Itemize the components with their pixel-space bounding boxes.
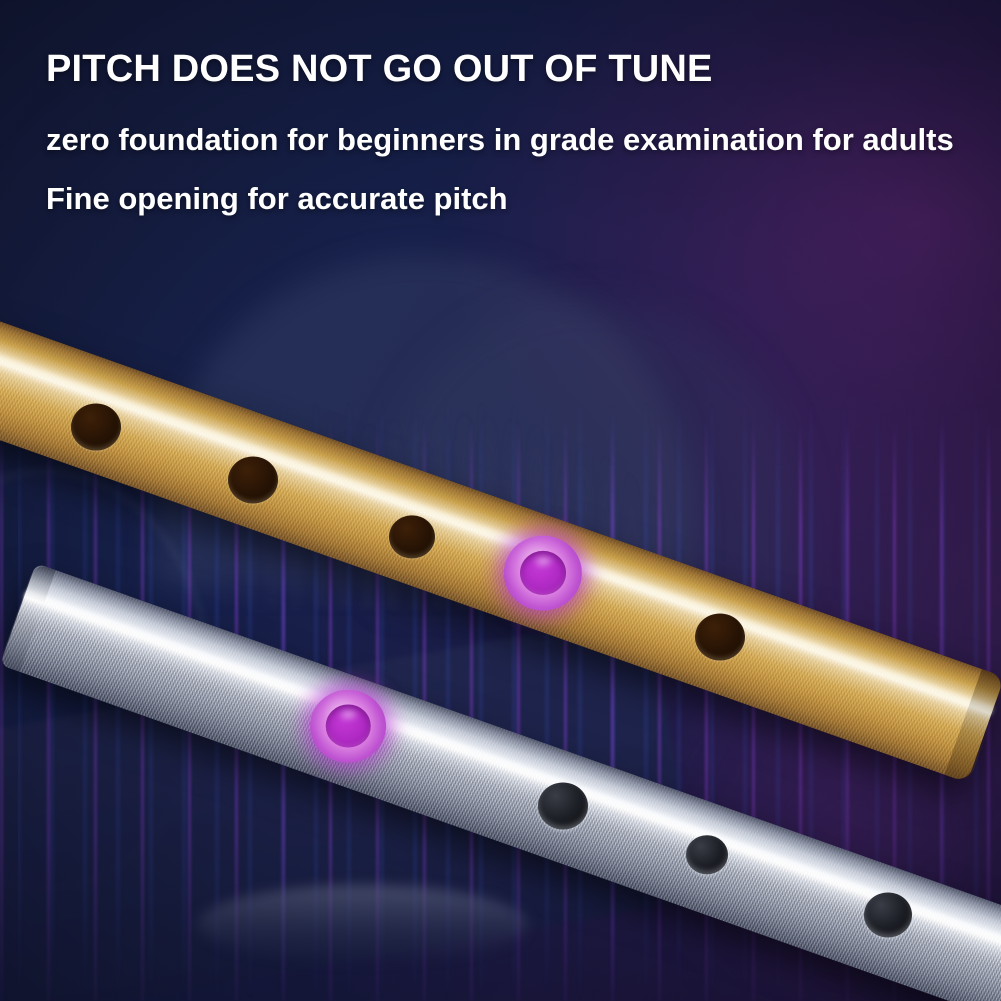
subline-2: Fine opening for accurate pitch xyxy=(46,183,976,214)
gold-tone-hole xyxy=(389,515,435,558)
gold-tone-hole xyxy=(695,614,745,661)
ring-gloss-highlight xyxy=(532,554,555,568)
marketing-copy: PITCH DOES NOT GO OUT OF TUNE zero found… xyxy=(46,50,976,214)
gold-pitch-marker-ring xyxy=(509,539,577,607)
silver-tone-hole xyxy=(864,892,912,937)
headline: PITCH DOES NOT GO OUT OF TUNE xyxy=(46,50,976,88)
silver-tone-hole xyxy=(686,835,728,874)
ring-gloss-highlight xyxy=(337,708,359,721)
gold-tone-hole xyxy=(71,404,121,451)
silver-pitch-marker-ring xyxy=(315,693,381,759)
gold-tone-hole xyxy=(228,457,278,504)
subline-1: zero foundation for beginners in grade e… xyxy=(46,124,976,155)
silver-tone-hole xyxy=(538,783,588,830)
product-banner: PITCH DOES NOT GO OUT OF TUNE zero found… xyxy=(0,0,1001,1001)
